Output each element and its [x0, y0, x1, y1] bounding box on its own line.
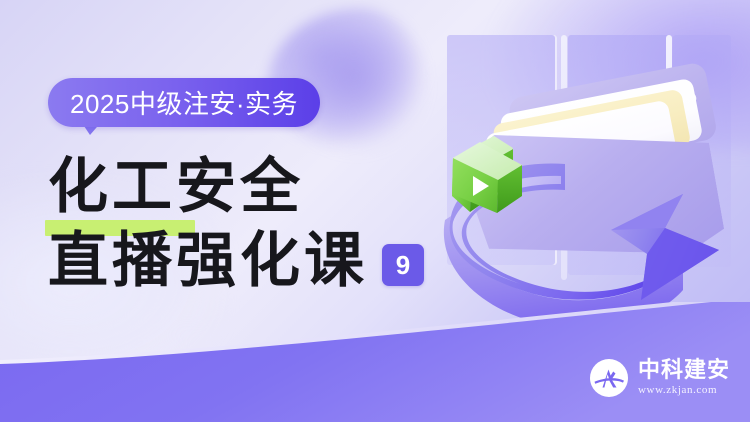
- course-badge-label: 2025中级注安·实务: [70, 84, 298, 121]
- brand-logo-text: 中科建安 www.zkjan.com: [638, 359, 730, 397]
- zkjan-circle-logo-icon: [589, 358, 629, 398]
- course-badge: 2025中级注安·实务: [48, 78, 320, 127]
- brand-logo: 中科建安 www.zkjan.com: [589, 358, 730, 398]
- brand-name: 中科建安: [638, 359, 730, 383]
- headline-line-1: 化工安全: [48, 150, 468, 224]
- background-blob-small: [300, 30, 420, 148]
- headline-line-2-row: 直播强化课 9: [48, 224, 468, 298]
- headline-block: 化工安全 直播强化课 9: [48, 150, 468, 298]
- brand-url: www.zkjan.com: [638, 384, 730, 397]
- episode-number-badge: 9: [382, 244, 424, 286]
- course-promo-poster: 2025中级注安·实务 化工安全 直播强化课 9 中科建安 www.zkjan.…: [0, 0, 750, 422]
- headline-line-2: 直播强化课: [48, 224, 368, 298]
